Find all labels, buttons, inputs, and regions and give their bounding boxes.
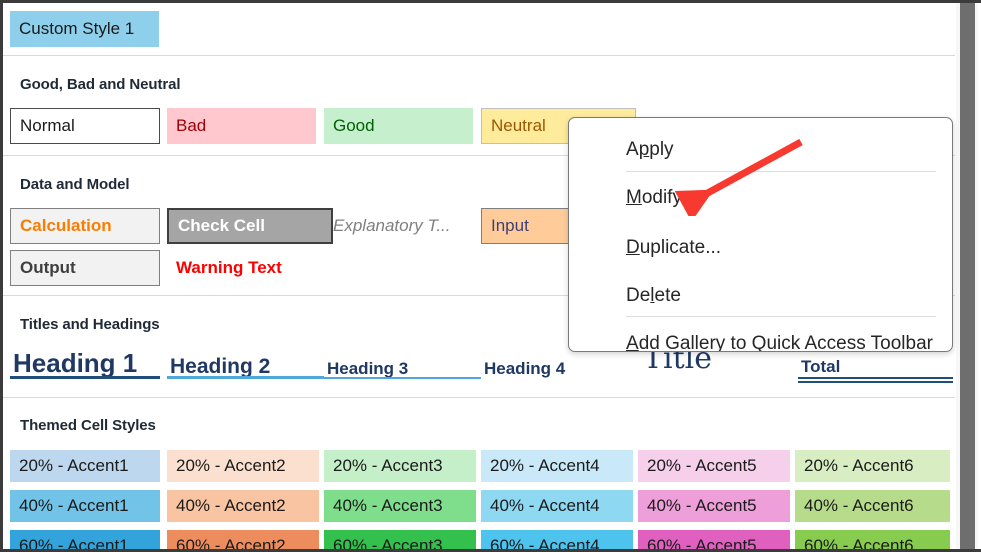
heading-label: Heading 1 <box>13 348 137 379</box>
heading-label: Heading 3 <box>327 359 408 379</box>
style-cell-accent-60pct-6[interactable]: 60% - Accent6 <box>795 530 950 549</box>
menu-item-modify[interactable]: Modify... <box>569 176 952 220</box>
style-cell-accent-40pct-2[interactable]: 40% - Accent2 <box>167 490 319 522</box>
style-cell-accent-40pct-5[interactable]: 40% - Accent5 <box>638 490 790 522</box>
screenshot-root: Custom Style 1Good, Bad and NeutralNorma… <box>0 0 981 552</box>
section-title-data-and-model: Data and Model <box>20 176 129 193</box>
menu-item-label-post: odify... <box>642 187 697 209</box>
style-cell-checkcell[interactable]: Check Cell <box>167 208 333 244</box>
style-cell-accent-20pct-2[interactable]: 20% - Accent2 <box>167 450 319 482</box>
style-cell-accent-40pct-3[interactable]: 40% - Accent3 <box>324 490 476 522</box>
style-cell-accent-60pct-1[interactable]: 60% - Accent1 <box>10 530 160 549</box>
style-cell-accent-20pct-4[interactable]: 20% - Accent4 <box>481 450 633 482</box>
heading-label: Heading 4 <box>484 359 565 379</box>
menu-separator-1 <box>626 171 936 172</box>
style-cell-warning[interactable]: Warning Text <box>167 250 333 286</box>
total-rule-upper <box>798 377 953 379</box>
menu-item-duplicate[interactable]: Duplicate... <box>569 226 952 270</box>
style-cell-total[interactable]: Total <box>798 357 955 377</box>
style-cell-output[interactable]: Output <box>10 250 160 286</box>
gallery-context-menu: ApplyModify...Duplicate...DeleteAdd Gall… <box>568 117 953 352</box>
menu-item-apply[interactable]: Apply <box>569 128 952 172</box>
menu-item-accelerator: A <box>626 333 639 352</box>
menu-item-accelerator: D <box>626 237 640 259</box>
heading-rule <box>10 376 160 379</box>
heading-rule <box>167 376 324 379</box>
section-title-titles-and-headings: Titles and Headings <box>20 316 160 333</box>
style-cell-explanatory[interactable]: Explanatory T... <box>324 208 473 244</box>
menu-item-label-pre: A <box>626 139 639 161</box>
menu-item-label-post: ete <box>655 285 681 307</box>
style-cell-accent-20pct-1[interactable]: 20% - Accent1 <box>10 450 160 482</box>
menu-item-label-pre: De <box>626 285 650 307</box>
style-cell-accent-60pct-5[interactable]: 60% - Accent5 <box>638 530 790 549</box>
style-cell-accent-40pct-1[interactable]: 40% - Accent1 <box>10 490 160 522</box>
menu-separator-2 <box>626 316 936 317</box>
total-rule-lower <box>798 381 953 383</box>
style-cell-accent-40pct-4[interactable]: 40% - Accent4 <box>481 490 633 522</box>
style-cell-heading-1[interactable]: Heading 1 <box>10 343 160 379</box>
style-cell-normal[interactable]: Normal <box>10 108 160 144</box>
section-divider <box>3 397 955 398</box>
menu-item-add-gallery[interactable]: Add Gallery to Quick Access Toolbar <box>569 322 952 352</box>
menu-item-label-post: uplicate... <box>640 237 721 259</box>
style-cell-accent-40pct-6[interactable]: 40% - Accent6 <box>795 490 950 522</box>
style-cell-accent-60pct-2[interactable]: 60% - Accent2 <box>167 530 319 549</box>
vertical-scrollbar-thumb[interactable] <box>960 3 975 549</box>
menu-item-accelerator: M <box>626 187 642 209</box>
style-cell-accent-20pct-3[interactable]: 20% - Accent3 <box>324 450 476 482</box>
style-cell-heading-2[interactable]: Heading 2 <box>167 343 324 379</box>
heading-rule <box>324 377 481 379</box>
style-cell-accent-20pct-6[interactable]: 20% - Accent6 <box>795 450 950 482</box>
section-divider <box>3 55 955 56</box>
section-title-good-bad-neutral: Good, Bad and Neutral <box>20 76 180 93</box>
style-cell-heading-3[interactable]: Heading 3 <box>324 343 481 379</box>
menu-item-accelerator: p <box>639 139 650 161</box>
style-cell-custom-style-1[interactable]: Custom Style 1 <box>10 11 159 47</box>
style-cell-calculation[interactable]: Calculation <box>10 208 160 244</box>
section-title-themed-cell-styles: Themed Cell Styles <box>20 417 156 434</box>
menu-item-label-post: ply <box>649 139 673 161</box>
menu-item-label-post: dd Gallery to Quick Access Toolbar <box>639 333 933 352</box>
style-cell-bad[interactable]: Bad <box>167 108 316 144</box>
style-cell-accent-20pct-5[interactable]: 20% - Accent5 <box>638 450 790 482</box>
menu-item-delete[interactable]: Delete <box>569 274 952 318</box>
style-cell-accent-60pct-3[interactable]: 60% - Accent3 <box>324 530 476 549</box>
style-cell-good[interactable]: Good <box>324 108 473 144</box>
style-cell-accent-60pct-4[interactable]: 60% - Accent4 <box>481 530 633 549</box>
